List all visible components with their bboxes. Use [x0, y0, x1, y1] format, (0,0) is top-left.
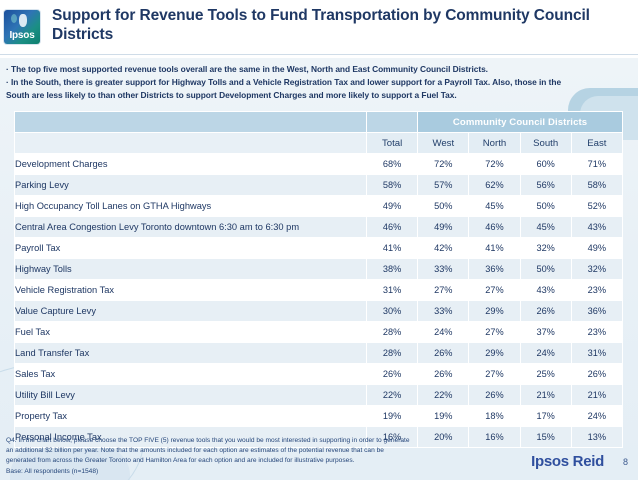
- table-cell-north: 27%: [469, 364, 520, 385]
- table-cell-east: 36%: [571, 301, 622, 322]
- table-cell-south: 24%: [520, 343, 571, 364]
- table-row: Property Tax19%19%18%17%24%: [15, 406, 623, 427]
- table-cell-east: 32%: [571, 259, 622, 280]
- table-cell-north: 29%: [469, 301, 520, 322]
- table-cell-east: 24%: [571, 406, 622, 427]
- table-cell-west: 42%: [418, 238, 469, 259]
- table-row: Vehicle Registration Tax31%27%27%43%23%: [15, 280, 623, 301]
- header-column-east: East: [571, 133, 622, 154]
- bullet-line-3: South are less likely to than other Dist…: [6, 89, 630, 102]
- table-cell-north: 45%: [469, 196, 520, 217]
- table-cell-west: 33%: [418, 259, 469, 280]
- table-row: Payroll Tax41%42%41%32%49%: [15, 238, 623, 259]
- table-row-label: Payroll Tax: [15, 238, 367, 259]
- header-group-community-council-districts: Community Council Districts: [418, 112, 623, 133]
- table-cell-north: 36%: [469, 259, 520, 280]
- table-cell-total: 31%: [367, 280, 418, 301]
- footnote-block: Q4. In the chart below, please choose th…: [6, 436, 426, 477]
- table-cell-north: 27%: [469, 322, 520, 343]
- header-divider: [0, 54, 638, 55]
- table-row: Sales Tax26%26%27%25%26%: [15, 364, 623, 385]
- header-column-north: North: [469, 133, 520, 154]
- table-row-label: Parking Levy: [15, 175, 367, 196]
- header-column-blank: [15, 133, 367, 154]
- table-cell-total: 26%: [367, 364, 418, 385]
- table-row: Fuel Tax28%24%27%37%23%: [15, 322, 623, 343]
- table-row: High Occupancy Toll Lanes on GTHA Highwa…: [15, 196, 623, 217]
- table-cell-north: 18%: [469, 406, 520, 427]
- footnote-line-1: Q4. In the chart below, please choose th…: [6, 436, 426, 446]
- table-cell-north: 62%: [469, 175, 520, 196]
- header-column-west: West: [418, 133, 469, 154]
- table-cell-east: 31%: [571, 343, 622, 364]
- table-cell-north: 46%: [469, 217, 520, 238]
- table-cell-total: 22%: [367, 385, 418, 406]
- table-cell-west: 26%: [418, 364, 469, 385]
- table-cell-south: 32%: [520, 238, 571, 259]
- table-cell-total: 41%: [367, 238, 418, 259]
- table-cell-east: 26%: [571, 364, 622, 385]
- table-cell-west: 50%: [418, 196, 469, 217]
- table-row-label: Highway Tolls: [15, 259, 367, 280]
- page-title: Support for Revenue Tools to Fund Transp…: [46, 4, 638, 45]
- table-cell-west: 49%: [418, 217, 469, 238]
- table-cell-east: 49%: [571, 238, 622, 259]
- summary-bullets: · The top five most supported revenue to…: [0, 58, 638, 102]
- table-cell-west: 24%: [418, 322, 469, 343]
- table-row-label: Sales Tax: [15, 364, 367, 385]
- table-cell-west: 19%: [418, 406, 469, 427]
- table-header-columns-row: Total West North South East: [15, 133, 623, 154]
- table-cell-east: 52%: [571, 196, 622, 217]
- table-row: Land Transfer Tax28%26%29%24%31%: [15, 343, 623, 364]
- footnote-line-2: an additional $2 billion per year. Note …: [6, 446, 426, 456]
- table-cell-south: 50%: [520, 259, 571, 280]
- footnote-line-3: generated from across the Greater Toront…: [6, 456, 426, 466]
- table-row-label: Development Charges: [15, 154, 367, 175]
- logo-mark-shape: [19, 14, 27, 27]
- header-column-total: Total: [367, 133, 418, 154]
- table-cell-south: 17%: [520, 406, 571, 427]
- table-row-label: Fuel Tax: [15, 322, 367, 343]
- results-table: Community Council Districts Total West N…: [14, 111, 623, 448]
- table-row-label: High Occupancy Toll Lanes on GTHA Highwa…: [15, 196, 367, 217]
- header-blank-total-spacer: [367, 112, 418, 133]
- table-header-group-row: Community Council Districts: [15, 112, 623, 133]
- table-cell-total: 28%: [367, 343, 418, 364]
- table-cell-south: 60%: [520, 154, 571, 175]
- table-cell-south: 15%: [520, 427, 571, 448]
- table-cell-north: 72%: [469, 154, 520, 175]
- page-number: 8: [623, 457, 628, 467]
- table-cell-east: 23%: [571, 280, 622, 301]
- table-cell-south: 26%: [520, 301, 571, 322]
- table-row: Value Capture Levy30%33%29%26%36%: [15, 301, 623, 322]
- slide-root: Ipsos Support for Revenue Tools to Fund …: [0, 0, 638, 480]
- table-cell-east: 71%: [571, 154, 622, 175]
- table-cell-east: 43%: [571, 217, 622, 238]
- table-cell-west: 26%: [418, 343, 469, 364]
- table-cell-west: 27%: [418, 280, 469, 301]
- logo-accent-shape: [11, 14, 17, 23]
- table-row: Central Area Congestion Levy Toronto dow…: [15, 217, 623, 238]
- table-cell-south: 25%: [520, 364, 571, 385]
- table-cell-total: 19%: [367, 406, 418, 427]
- table-row: Utility Bill Levy22%22%26%21%21%: [15, 385, 623, 406]
- table-row-label: Vehicle Registration Tax: [15, 280, 367, 301]
- bullet-line-1: · The top five most supported revenue to…: [6, 63, 630, 76]
- table-cell-north: 16%: [469, 427, 520, 448]
- results-table-container: Community Council Districts Total West N…: [14, 111, 622, 448]
- table-cell-total: 38%: [367, 259, 418, 280]
- table-cell-total: 49%: [367, 196, 418, 217]
- header-column-south: South: [520, 133, 571, 154]
- table-cell-north: 26%: [469, 385, 520, 406]
- table-cell-west: 72%: [418, 154, 469, 175]
- slide-header: Ipsos Support for Revenue Tools to Fund …: [0, 0, 638, 58]
- ipsos-reid-brand: Ipsos Reid: [531, 453, 604, 470]
- table-cell-east: 21%: [571, 385, 622, 406]
- table-cell-west: 57%: [418, 175, 469, 196]
- table-cell-north: 41%: [469, 238, 520, 259]
- table-cell-east: 58%: [571, 175, 622, 196]
- table-cell-south: 45%: [520, 217, 571, 238]
- table-cell-north: 29%: [469, 343, 520, 364]
- table-cell-total: 30%: [367, 301, 418, 322]
- footnote-base: Base: All respondents (n=1548): [6, 467, 426, 477]
- table-cell-east: 13%: [571, 427, 622, 448]
- table-cell-south: 37%: [520, 322, 571, 343]
- table-row-label: Value Capture Levy: [15, 301, 367, 322]
- table-row: Highway Tolls38%33%36%50%32%: [15, 259, 623, 280]
- table-cell-total: 58%: [367, 175, 418, 196]
- table-cell-west: 22%: [418, 385, 469, 406]
- table-cell-total: 68%: [367, 154, 418, 175]
- table-cell-south: 43%: [520, 280, 571, 301]
- header-blank-cell: [15, 112, 367, 133]
- table-body: Development Charges68%72%72%60%71%Parkin…: [15, 154, 623, 448]
- bullet-line-2: · In the South, there is greater support…: [6, 76, 630, 89]
- table-cell-south: 50%: [520, 196, 571, 217]
- table-cell-south: 56%: [520, 175, 571, 196]
- table-row-label: Property Tax: [15, 406, 367, 427]
- table-row-label: Utility Bill Levy: [15, 385, 367, 406]
- logo-wordmark: Ipsos: [4, 30, 40, 41]
- table-row: Development Charges68%72%72%60%71%: [15, 154, 623, 175]
- table-row-label: Central Area Congestion Levy Toronto dow…: [15, 217, 367, 238]
- table-cell-south: 21%: [520, 385, 571, 406]
- table-row: Parking Levy58%57%62%56%58%: [15, 175, 623, 196]
- table-head: Community Council Districts Total West N…: [15, 112, 623, 154]
- table-cell-total: 28%: [367, 322, 418, 343]
- table-cell-east: 23%: [571, 322, 622, 343]
- table-cell-north: 27%: [469, 280, 520, 301]
- ipsos-logo-icon: Ipsos: [4, 10, 40, 44]
- table-cell-total: 46%: [367, 217, 418, 238]
- table-cell-west: 33%: [418, 301, 469, 322]
- table-row-label: Land Transfer Tax: [15, 343, 367, 364]
